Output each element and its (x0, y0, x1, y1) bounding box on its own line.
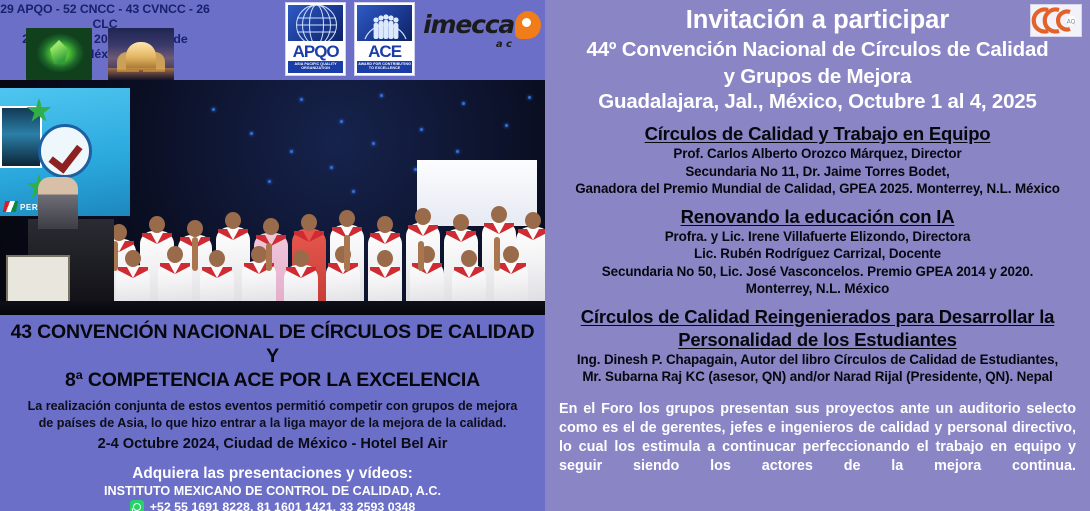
session-2-line: Monterrey, N.L. México (551, 280, 1084, 298)
speaker-person (38, 177, 78, 229)
invitation-title: Invitación a participar (551, 5, 1084, 35)
session-3-heading-line2: Personalidad de los Estudiantes (551, 328, 1084, 351)
globe-icon (288, 5, 343, 41)
poster-flyer: 29 APQO - 52 CNCC - 43 CVNCC - 26 CLC 2-… (0, 0, 1090, 511)
left-description-line2: de países de Asia, lo que hizo entrar a … (8, 415, 537, 432)
convention-title-line1: 44º Convención Nacional de Círculos de C… (551, 37, 1084, 62)
people-arch-icon (357, 5, 412, 41)
left-date-venue: 2-4 Octubre 2024, Ciudad de México - Hot… (8, 434, 537, 454)
header-thumbnails (26, 28, 174, 80)
left-main-title-line2: 8ª COMPETENCIA ACE POR LA EXCELENCIA (8, 368, 537, 392)
convention-city-date: Guadalajara, Jal., México, Octubre 1 al … (551, 89, 1084, 115)
session-3-line: Ing. Dinesh P. Chapagain, Autor del libr… (551, 351, 1084, 369)
ccc-logo: AQ (1030, 4, 1082, 37)
ace-acronym: ACE (368, 42, 401, 61)
convention-group-photo-image: PERTAMINA (0, 80, 545, 315)
forum-description-paragraph: En el Foro los grupos presentan sus proy… (551, 400, 1084, 495)
session-section-1: Círculos de Calidad y Trabajo en Equipo … (551, 122, 1084, 198)
session-1-line: Ganadora del Premio Mundial de Calidad, … (551, 180, 1084, 198)
convention-title-line2: y Grupos de Mejora (551, 64, 1084, 89)
session-1-line: Secundaria No 11, Dr. Jaime Torres Bodet… (551, 163, 1084, 181)
apqo-acronym: APQO (293, 42, 339, 61)
celebrating-group (96, 165, 545, 315)
session-2-line: Profra. y Lic. Irene Villafuerte Elizond… (551, 228, 1084, 246)
ace-subtitle: AWARD FOR CONTRIBUTING TO EXCELLENCE (357, 61, 412, 73)
left-caption-block: 43 CONVENCIÓN NACIONAL DE CÍRCULOS DE CA… (0, 320, 545, 511)
organization-name: INSTITUTO MEXICANO DE CONTROL DE CALIDAD… (8, 483, 537, 499)
header-logos: APQO ASIA PACIFIC QUALITY ORGANIZATION (285, 2, 541, 76)
left-panel: 29 APQO - 52 CNCC - 43 CVNCC - 26 CLC 2-… (0, 0, 545, 511)
session-2-line: Lic. Rubén Rodríguez Carrizal, Docente (551, 245, 1084, 263)
imecca-logo: imecca a c (423, 10, 541, 39)
session-2-line: Secundaria No 50, Lic. José Vasconcelos.… (551, 263, 1084, 281)
bellas-artes-palace-thumbnail-image (108, 28, 174, 80)
session-section-3: Círculos de Calidad Reingenierados para … (551, 305, 1084, 386)
apqo-logo: APQO ASIA PACIFIC QUALITY ORGANIZATION (285, 2, 346, 76)
well-done-badge-graphic (38, 124, 92, 178)
ace-logo: ACE AWARD FOR CONTRIBUTING TO EXCELLENCE (354, 2, 415, 76)
imecca-ac-suffix: a c (496, 39, 512, 50)
certificate-display (6, 255, 70, 305)
session-3-line: Mr. Subarna Raj KC (asesor, QN) and/or N… (551, 368, 1084, 386)
imecca-wordmark: imecca a c (423, 10, 514, 39)
left-main-title-line1: 43 CONVENCIÓN NACIONAL DE CÍRCULOS DE CA… (8, 320, 537, 368)
crystal-trophy-thumbnail-image (26, 28, 92, 80)
session-section-2: Renovando la educación con IA Profra. y … (551, 205, 1084, 298)
right-panel: AQ Invitación a participar 44º Convenció… (545, 0, 1090, 511)
session-2-heading: Renovando la educación con IA (551, 205, 1084, 228)
imecca-word-text: imecca (423, 10, 514, 39)
acquire-heading: Adquiera las presentaciones y vídeos: (8, 464, 537, 483)
apqo-subtitle: ASIA PACIFIC QUALITY ORGANIZATION (288, 61, 343, 73)
whatsapp-icon (130, 500, 144, 511)
left-description-line1: La realización conjunta de estos eventos… (8, 398, 537, 415)
session-1-heading: Círculos de Calidad y Trabajo en Equipo (551, 122, 1084, 145)
left-header: 29 APQO - 52 CNCC - 43 CVNCC - 26 CLC 2-… (0, 0, 545, 80)
whatsapp-contact-row: +52 55 1691 8228, 81 1601 1421, 33 2593 … (8, 499, 537, 511)
whatsapp-numbers: +52 55 1691 8228, 81 1601 1421, 33 2593 … (150, 499, 416, 511)
imecca-swirl-icon (515, 11, 541, 39)
session-1-line: Prof. Carlos Alberto Orozco Márquez, Dir… (551, 145, 1084, 163)
stage-floor (0, 301, 545, 315)
svg-text:AQ: AQ (1067, 19, 1076, 26)
session-3-heading-line1: Círculos de Calidad Reingenierados para … (551, 305, 1084, 328)
